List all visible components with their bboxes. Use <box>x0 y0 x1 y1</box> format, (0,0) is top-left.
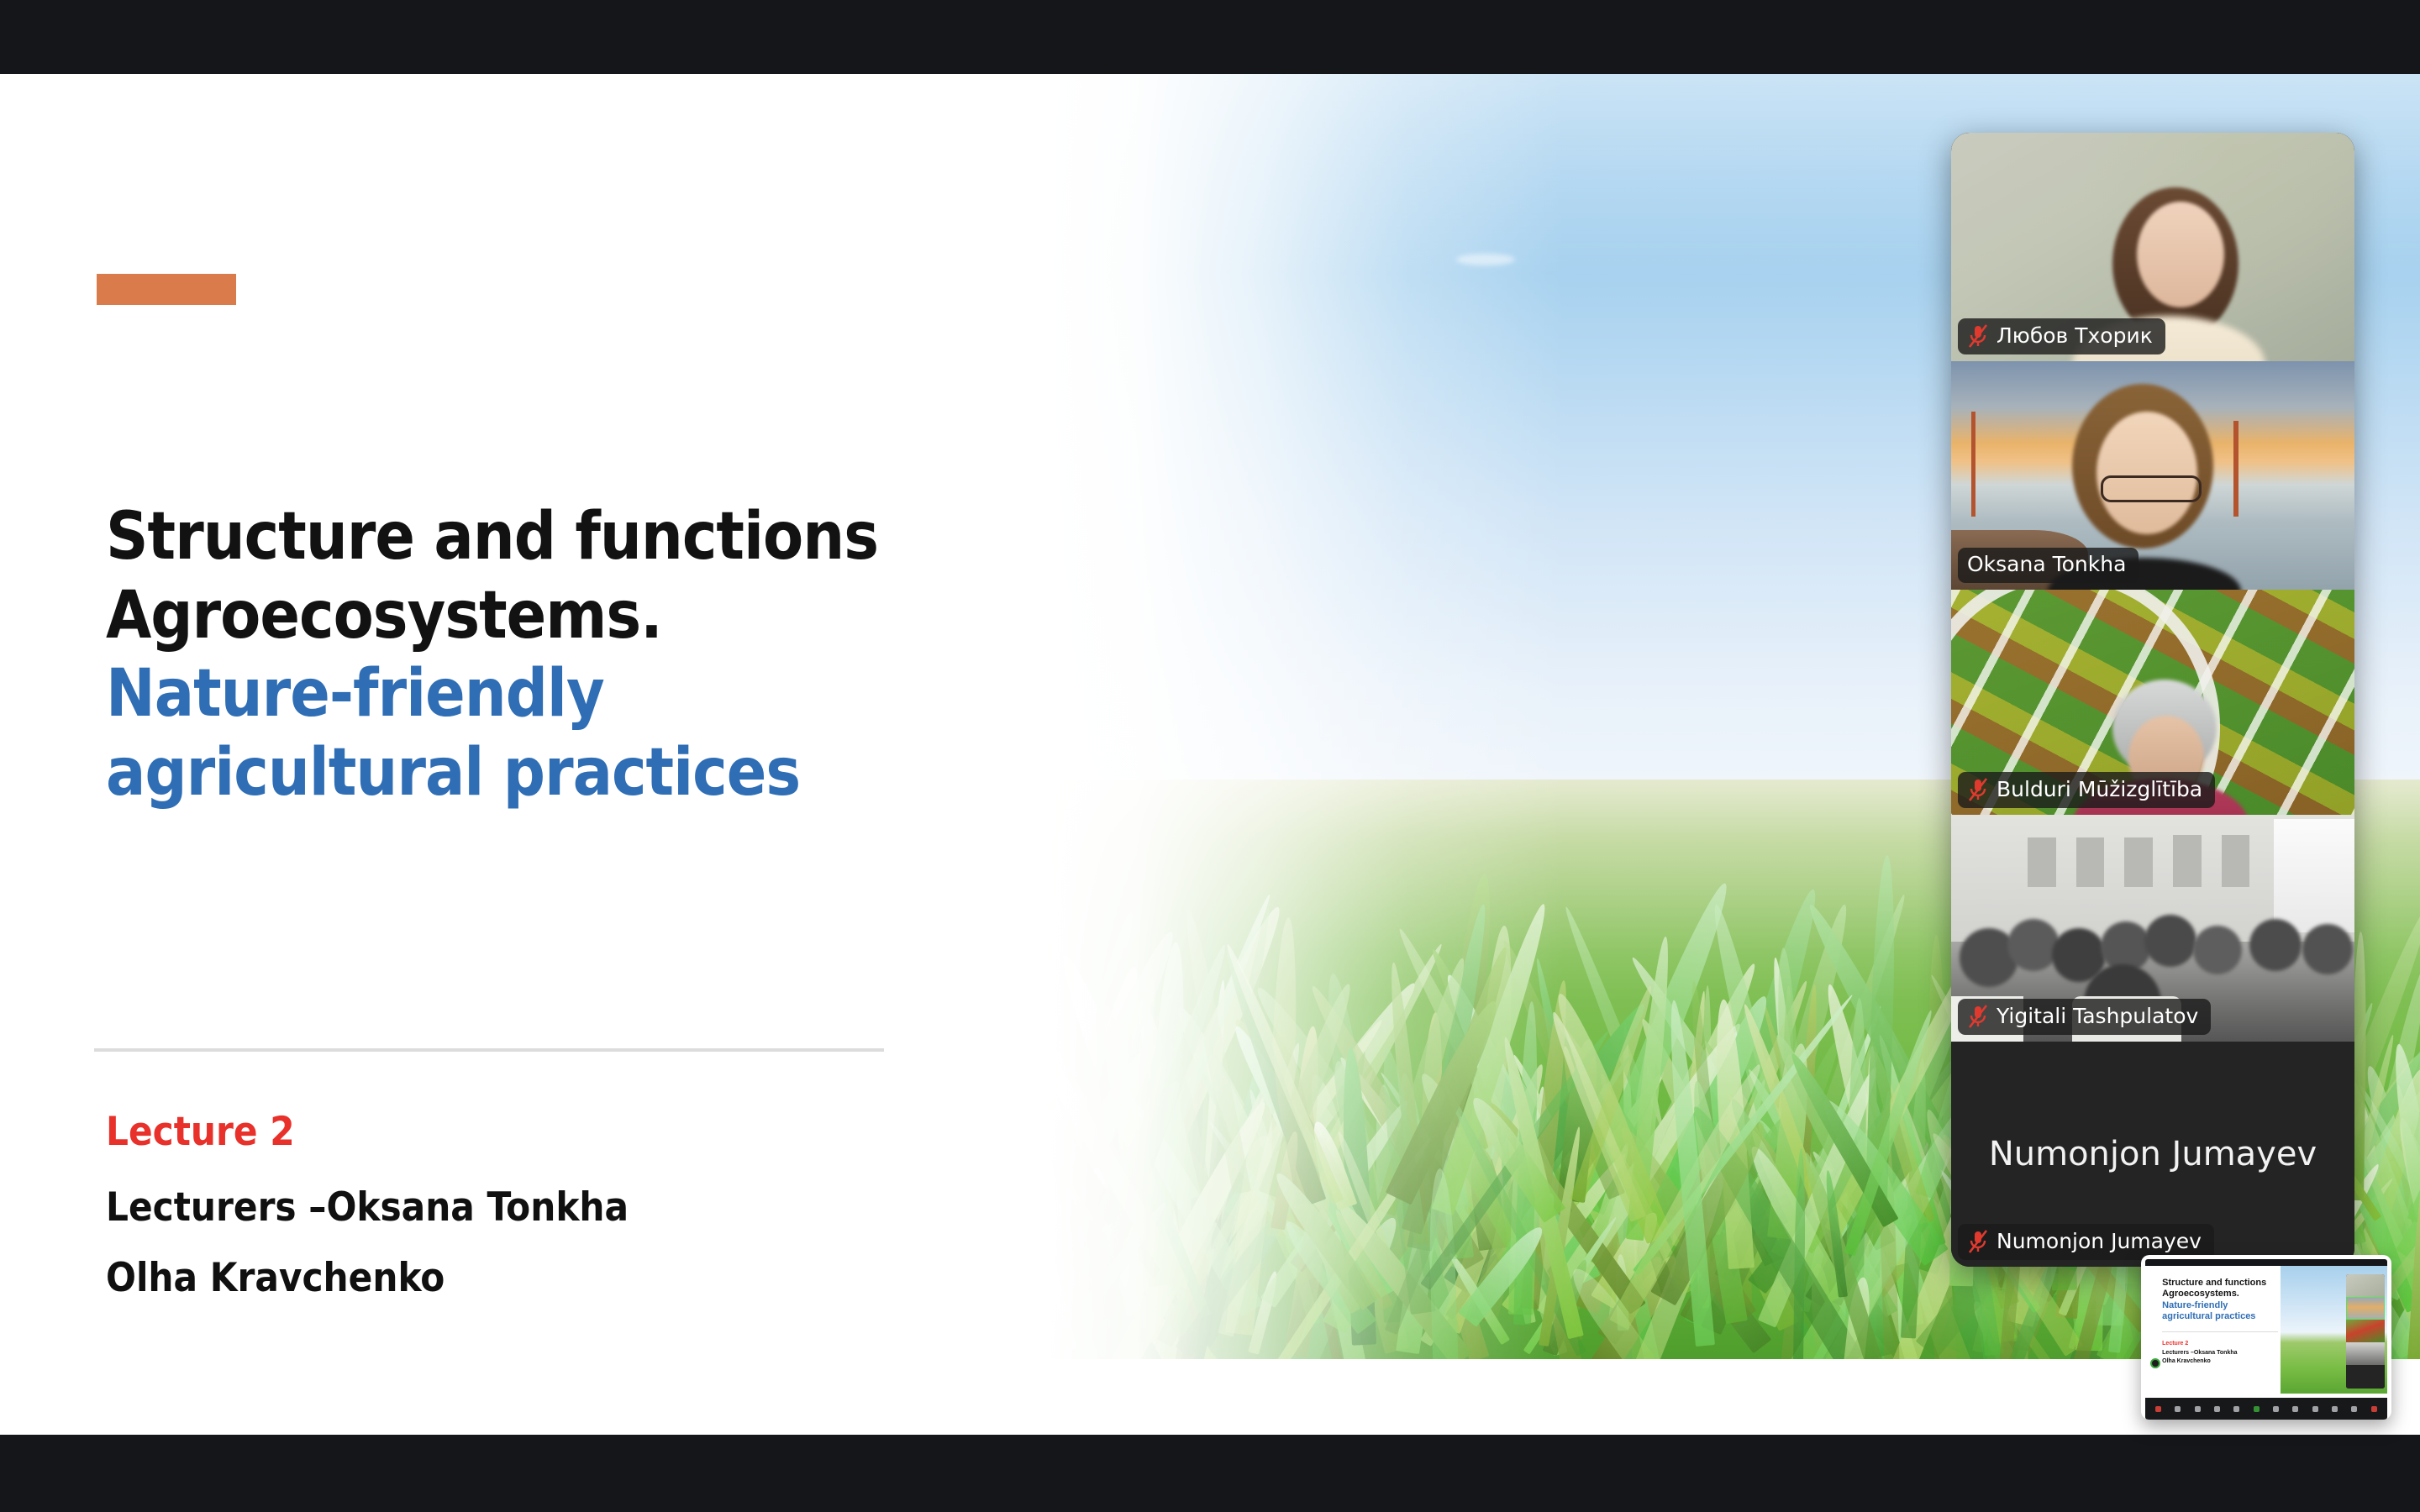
preview-tile <box>2346 1365 2385 1389</box>
title-line-1: Structure and functions <box>106 498 1030 577</box>
camera-icon <box>2175 1406 2181 1412</box>
preview-tile <box>2346 1320 2385 1342</box>
lecturers-line-1: Lecturers –Oksana Tonkha <box>106 1183 1030 1233</box>
share-screen-icon <box>2254 1406 2260 1412</box>
participant-tile[interactable]: Yigitali Tashpulatov <box>1951 815 2354 1042</box>
participant-name: Bulduri Mūžizglītība <box>1996 778 2202 802</box>
participants-icon <box>2195 1406 2201 1412</box>
wall-poster-icon <box>2222 835 2250 887</box>
preview-toolbar <box>2145 1398 2387 1420</box>
wall-poster-icon <box>2173 835 2202 887</box>
wall-poster-icon <box>2124 837 2153 887</box>
preview-tile <box>2346 1342 2385 1365</box>
mic-muted-icon <box>1967 1004 1989 1029</box>
preview-lecturers-2: Olha Kravchenko <box>2162 1358 2211 1364</box>
preview-title-line-4: agricultural practices <box>2162 1311 2283 1322</box>
mic-muted-icon <box>1967 323 1989 349</box>
lecturers-line-2: Olha Kravchenko <box>106 1253 1030 1304</box>
participant-tile[interactable]: Bulduri Mūžizglītība <box>1951 590 2354 815</box>
preview-tile <box>2346 1297 2385 1320</box>
participant-tile[interactable]: Любов Тхорик <box>1951 133 2354 361</box>
recording-dot-icon <box>2150 1358 2160 1368</box>
student-head <box>2007 919 2060 971</box>
participant-name: Oksana Tonkha <box>1967 553 2126 577</box>
preview-tile <box>2346 1274 2385 1297</box>
info-icon <box>2312 1406 2318 1412</box>
preview-slide: Structure and functions Agroecosystems. … <box>2145 1266 2387 1394</box>
face-shape <box>2096 412 2197 534</box>
bridge-tower-icon <box>1971 412 1975 517</box>
participant-name-chip: Yigitali Tashpulatov <box>1958 999 2211 1035</box>
participant-tile[interactable]: Oksana Tonkha <box>1951 361 2354 590</box>
mic-muted-icon <box>1967 777 1989 802</box>
participant-filmstrip[interactable]: Любов Тхорик Oksana Tonkha <box>1951 133 2354 1267</box>
student-head <box>2302 924 2353 974</box>
lecture-label: Lecture 2 <box>106 1107 1030 1158</box>
participant-name: Numonjon Jumayev <box>1996 1230 2202 1254</box>
chat-icon <box>2214 1406 2220 1412</box>
mic-muted-icon <box>1967 1229 1989 1254</box>
mic-muted-icon <box>2155 1406 2161 1412</box>
annotate-icon <box>2273 1406 2279 1412</box>
meeting-screen-share-view: Structure and functions Agroecosystems. … <box>0 0 2420 1512</box>
preview-filmstrip <box>2346 1274 2385 1389</box>
participant-name: Yigitali Tashpulatov <box>1996 1005 2198 1029</box>
page-title: Structure and functions Agroecosystems. … <box>106 498 1030 812</box>
preview-titlebar <box>2145 1259 2387 1266</box>
glasses-icon <box>2101 475 2202 502</box>
preview-divider <box>2162 1331 2278 1332</box>
orange-accent-bar <box>97 274 236 305</box>
window-icon <box>2274 819 2354 932</box>
preview-lecturers-1: Lecturers –Oksana Tonkha <box>2162 1350 2237 1356</box>
slide-meta: Lecture 2 Lecturers –Oksana Tonkha Olha … <box>106 1107 1030 1324</box>
reactions-icon <box>2233 1406 2239 1412</box>
participant-name-chip: Oksana Tonkha <box>1958 548 2139 583</box>
more-icon <box>2351 1406 2357 1412</box>
slide-text-column: Structure and functions Agroecosystems. … <box>0 74 1059 1359</box>
remote-control-icon <box>2292 1406 2298 1412</box>
student-head <box>2144 915 2196 967</box>
student-head <box>2249 919 2302 971</box>
participant-name-chip: Любов Тхорик <box>1958 318 2165 354</box>
preview-meta: Lecture 2 Lecturers –Oksana Tonkha Olha … <box>2162 1340 2293 1367</box>
preview-lecture-label: Lecture 2 <box>2162 1340 2293 1349</box>
preview-title-line-2: Agroecosystems. <box>2162 1289 2283 1299</box>
title-line-3: Nature-friendly <box>106 655 1030 734</box>
participant-name-chip: Bulduri Mūžizglītība <box>1958 772 2215 808</box>
preview-inner: Structure and functions Agroecosystems. … <box>2145 1259 2387 1420</box>
preview-title-line-1: Structure and functions <box>2162 1278 2283 1289</box>
window-top-letterbox <box>0 0 2420 74</box>
shared-screen-self-preview[interactable]: Structure and functions Agroecosystems. … <box>2141 1255 2391 1420</box>
divider <box>94 1048 884 1052</box>
preview-title-line-3: Nature-friendly <box>2162 1300 2283 1311</box>
wall-poster-icon <box>2076 837 2105 887</box>
breakout-icon <box>2332 1406 2338 1412</box>
end-meeting-icon <box>2371 1406 2377 1412</box>
participant-tile[interactable]: Numonjon Jumayev Numonjon Jumayev <box>1951 1042 2354 1267</box>
face-shape <box>2137 202 2224 307</box>
wall-poster-icon <box>2028 837 2056 887</box>
title-line-2: Agroecosystems. <box>106 577 1030 656</box>
student-head <box>2193 926 2242 974</box>
preview-title: Structure and functions Agroecosystems. … <box>2162 1278 2283 1323</box>
participant-name: Любов Тхорик <box>1996 324 2153 349</box>
photo-left-fade <box>1044 74 1565 1359</box>
bridge-tower-icon <box>2233 421 2238 517</box>
window-bottom-letterbox <box>0 1435 2420 1512</box>
title-line-4: agricultural practices <box>106 734 1030 813</box>
